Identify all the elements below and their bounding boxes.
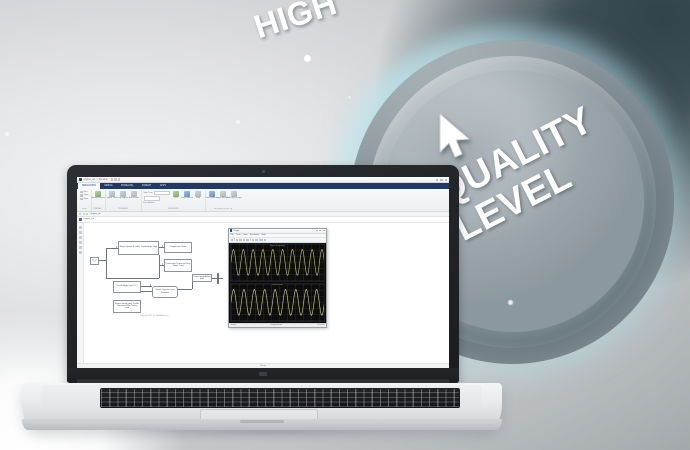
dial-indicator-dot	[508, 300, 513, 305]
run-button[interactable]: Run	[172, 191, 181, 200]
decor-dot-3	[5, 132, 9, 136]
zoom-in-icon[interactable]	[236, 239, 238, 241]
mux-block[interactable]	[217, 273, 219, 284]
scope-menu-simulation[interactable]: Simulation	[250, 234, 259, 236]
scope-window-controls[interactable]	[316, 230, 325, 232]
maximize-icon[interactable]	[319, 230, 321, 232]
sine-wave-icon	[92, 258, 98, 263]
stop-label: Stop	[196, 197, 200, 199]
run-icon	[173, 191, 179, 197]
redo-icon[interactable]	[118, 178, 120, 180]
diagram-block[interactable]: Vehicle Dynamics and Drivetrain	[152, 286, 178, 298]
workspace: Engine Speed, N (rad/s) Throttle Angle (…	[77, 223, 449, 364]
measure-icon[interactable]	[252, 239, 254, 241]
stop-time-label: Stop Time	[144, 192, 153, 194]
diagram-block[interactable]: Combustion Torque and Drag Torque, Load	[164, 259, 192, 272]
waveform-1	[231, 244, 324, 281]
autoscale-icon[interactable]	[243, 239, 245, 241]
simulink-icon	[79, 178, 82, 181]
scope-plot-area: Engine Speed (rpm) Air/Fuel Ratio	[229, 243, 326, 323]
zoom-out-icon[interactable]	[239, 239, 241, 241]
step-forward-button[interactable]: Step Forward	[183, 191, 192, 200]
step-forward-icon	[184, 191, 190, 197]
stop-icon	[195, 191, 201, 197]
ribbon-open-label: Open	[84, 194, 89, 196]
scope-status-right: T=10.000	[317, 324, 325, 326]
simulink-application: engine_wc — Simulink	[77, 177, 449, 368]
log-signals-icon	[120, 191, 126, 197]
ribbon-new-button[interactable]: New	[80, 191, 89, 194]
zoom-out-icon[interactable]	[79, 231, 82, 234]
ribbon-save-label: Save	[84, 198, 89, 200]
wire-arrow	[162, 245, 163, 247]
data-inspector-button[interactable]: Data Inspector	[208, 191, 217, 200]
model-explorer-icon[interactable]	[79, 251, 82, 254]
laptop-open-notch	[240, 420, 284, 423]
save-icon	[80, 198, 83, 201]
close-icon[interactable]	[445, 179, 447, 181]
sim-mode-input[interactable]	[144, 196, 160, 201]
model-address-value: engine_wc	[84, 218, 94, 220]
scope-status-center: Sample based	[271, 324, 283, 326]
open-icon	[80, 194, 83, 197]
undo-icon[interactable]	[114, 178, 116, 180]
laptop-base	[22, 383, 502, 430]
scope-menu-help[interactable]: Help	[262, 234, 266, 236]
stop-time-input[interactable]	[154, 191, 170, 196]
mouse-pointer-icon	[436, 112, 476, 160]
scope-statusbar: Ready Sample based T=10.000	[229, 323, 326, 327]
app-title: engine_wc — Simulink	[84, 178, 108, 181]
laptop-deck	[42, 385, 482, 411]
settings-icon[interactable]	[255, 239, 257, 241]
signal-table-button[interactable]: Signal Table	[108, 191, 117, 200]
back-icon[interactable]	[79, 213, 81, 215]
decor-dot-1	[304, 55, 311, 62]
annotate-icon[interactable]	[79, 246, 82, 249]
save-icon[interactable]	[111, 178, 113, 180]
log-signals-button[interactable]: Log Signals	[119, 191, 128, 200]
webcam-icon	[262, 170, 265, 173]
add-viewer-icon	[131, 191, 137, 197]
scope-window[interactable]: Scope File Tools	[228, 228, 327, 328]
maximize-icon[interactable]	[440, 179, 442, 181]
scope-menu-tools[interactable]: Tools	[236, 234, 241, 236]
minimize-icon[interactable]	[436, 179, 438, 181]
ribbon-group-file: New Open Save	[78, 190, 92, 211]
laptop-screen: engine_wc — Simulink	[77, 177, 449, 368]
wire-arrow	[116, 246, 117, 248]
scope-pane-2[interactable]: Air/Fuel Ratio	[230, 283, 325, 322]
bird-eye-scope-icon	[231, 191, 237, 197]
model-icon	[79, 218, 82, 221]
signal-table-label: Signal Table	[107, 197, 118, 199]
scene-root: HIGH QUALITY LEVEL engine_wc — Simulink	[0, 0, 690, 450]
style-icon[interactable]	[260, 239, 262, 241]
ribbon-group-library: Library Browser LIBRARY	[92, 190, 106, 211]
signal-table-icon	[109, 191, 115, 197]
log-signals-label: Log Signals	[118, 197, 128, 199]
library-browser-button[interactable]: Library Browser	[94, 191, 103, 200]
ribbon-group-simulate: Stop Time Fast Restart	[142, 190, 206, 211]
decor-dot-4	[348, 96, 351, 99]
block-diagram-canvas[interactable]: Engine Speed, N (rad/s) Throttle Angle (…	[84, 223, 449, 364]
ribbon-toolbar: New Open Save	[77, 189, 449, 212]
data-inspector-icon	[209, 191, 215, 197]
diagram-block[interactable]: Compression Stroke	[164, 242, 192, 253]
forward-icon[interactable]	[83, 213, 85, 215]
logic-analyzer-icon	[220, 191, 226, 197]
scope-menu-view[interactable]: View	[243, 234, 247, 236]
zoom-in-icon[interactable]	[79, 226, 82, 229]
scope-menu-file[interactable]: File	[231, 234, 234, 236]
ribbon-group-label-review: REVIEW RESULTS	[208, 208, 239, 211]
scope-pane-1[interactable]: Engine Speed (rpm)	[230, 243, 325, 282]
laptop: engine_wc — Simulink	[22, 165, 502, 430]
laptop-base-front	[22, 419, 502, 430]
fast-restart-toggle[interactable]: Fast Restart	[144, 202, 170, 204]
add-viewer-button[interactable]: Add Viewer	[130, 191, 139, 200]
window-controls[interactable]	[436, 179, 447, 181]
minimize-icon[interactable]	[316, 230, 318, 232]
bird-eye-scope-label: Bird's-Eye Scope	[226, 197, 241, 199]
pan-icon[interactable]	[79, 241, 82, 244]
ribbon-open-button[interactable]: Open	[80, 194, 89, 197]
ribbon-group-label-simulate: SIMULATE	[144, 208, 203, 211]
bird-eye-scope-button[interactable]: Bird's-Eye Scope	[230, 191, 239, 200]
cursor-icon[interactable]	[246, 239, 248, 241]
stop-button[interactable]: Stop	[194, 191, 203, 200]
canvas-tool-palette[interactable]	[77, 223, 84, 364]
diagram-block[interactable]: Throttle Angle Input 0 1 2	[113, 281, 141, 293]
decor-dot-2	[236, 120, 240, 124]
laptop-lid: engine_wc — Simulink	[67, 165, 459, 383]
sim-mode-select[interactable]	[144, 196, 170, 201]
laptop-brand-logo	[259, 372, 267, 376]
ribbon-save-button[interactable]: Save	[80, 198, 89, 201]
breadcrumb-nav[interactable]	[79, 213, 88, 215]
ribbon-new-label: New	[84, 191, 88, 193]
ribbon-group-prepare: Signal Table Log Signals Add Viewer	[106, 190, 142, 211]
diagram-block[interactable]: Engine Speed (rpm) Throttle Command Valv…	[113, 300, 141, 313]
print-icon[interactable]	[231, 239, 233, 241]
wire-arrow	[150, 284, 151, 286]
breadcrumb-path[interactable]: engine_wc	[90, 213, 100, 215]
scope-icon	[230, 229, 232, 231]
close-icon[interactable]	[323, 230, 325, 232]
step-forward-label: Step Forward	[181, 197, 193, 199]
scope-title: Scope	[233, 230, 239, 232]
library-browser-label: Library Browser	[91, 197, 105, 199]
app-status-text: Ready	[260, 365, 266, 367]
ribbon-group-label-library: LIBRARY	[94, 208, 103, 211]
legend-icon[interactable]	[264, 239, 266, 241]
add-viewer-label: Add Viewer	[129, 197, 139, 199]
ribbon-group-label-file: FILE	[80, 208, 89, 211]
waveform-2	[231, 284, 324, 321]
new-icon	[80, 191, 83, 194]
wire-arrow	[162, 263, 163, 265]
ribbon-group-label-prepare: PREPARE	[108, 208, 139, 211]
stop-time-field[interactable]: Stop Time	[144, 191, 170, 196]
up-icon[interactable]	[86, 213, 88, 215]
run-label: Run	[174, 197, 178, 199]
fit-to-view-icon[interactable]	[79, 236, 82, 239]
diagram-block[interactable]: Engine Speed, N (rad/s) Throttle Angle (…	[118, 241, 159, 255]
laptop-keyboard[interactable]	[100, 388, 460, 408]
keyboard-keys	[101, 389, 459, 407]
library-browser-icon	[95, 191, 101, 197]
diagram-copyright: Copyright 2017 The MathWorks, Inc.	[140, 315, 169, 317]
scope-status-left: Ready	[231, 324, 236, 326]
quick-access-toolbar[interactable]	[111, 178, 120, 180]
ribbon-group-review: Data Inspector Logic Analyzer Bird's-Eye…	[206, 190, 241, 211]
diagram-block[interactable]: Engine Speed Air/Fuel Ratio	[192, 274, 212, 282]
fast-restart-label: Fast Restart	[144, 202, 155, 204]
sine-source-block[interactable]	[90, 257, 99, 265]
